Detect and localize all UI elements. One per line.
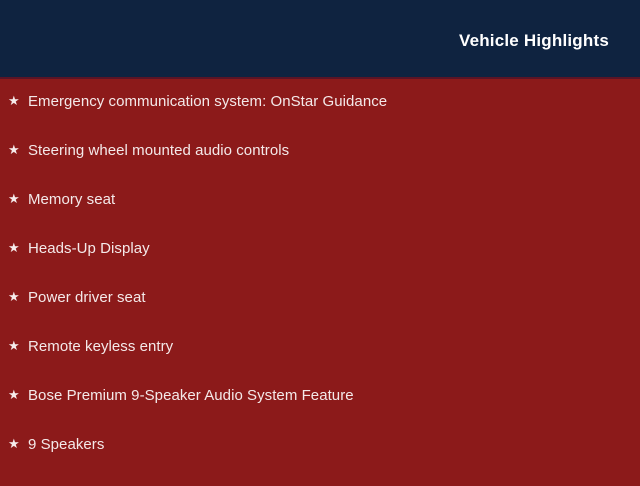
list-item: ★Steering wheel mounted audio controls [0,143,640,192]
list-item-label: 9 Speakers [28,437,640,452]
star-bullet-icon: ★ [8,241,28,254]
list-item: ★Memory seat [0,192,640,241]
list-item: ★Heads-Up Display [0,241,640,290]
list-item: ★Bose Premium 9-Speaker Audio System Fea… [0,388,640,437]
star-bullet-icon: ★ [8,339,28,352]
list-item-label: Bose Premium 9-Speaker Audio System Feat… [28,388,640,403]
list-item: ★Power driver seat [0,290,640,339]
list-item: ★Emergency communication system: OnStar … [0,94,640,143]
list-item-label: Power driver seat [28,290,640,305]
list-item-label: Steering wheel mounted audio controls [28,143,640,158]
list-item-label: Remote keyless entry [28,339,640,354]
list-item-label: Memory seat [28,192,640,207]
star-bullet-icon: ★ [8,94,28,107]
list-item: ★Remote keyless entry [0,339,640,388]
list-item-label: Emergency communication system: OnStar G… [28,94,640,109]
vehicle-highlights-list: ★Emergency communication system: OnStar … [0,94,640,486]
vehicle-highlights-slide: Vehicle Highlights ★Emergency communicat… [0,0,640,480]
star-bullet-icon: ★ [8,290,28,303]
slide-body: ★Emergency communication system: OnStar … [0,79,640,486]
slide-header: Vehicle Highlights [0,0,640,79]
page-title: Vehicle Highlights [459,32,609,49]
star-bullet-icon: ★ [8,437,28,450]
star-bullet-icon: ★ [8,388,28,401]
star-bullet-icon: ★ [8,143,28,156]
star-bullet-icon: ★ [8,192,28,205]
list-item: ★9 Speakers [0,437,640,486]
list-item-label: Heads-Up Display [28,241,640,256]
